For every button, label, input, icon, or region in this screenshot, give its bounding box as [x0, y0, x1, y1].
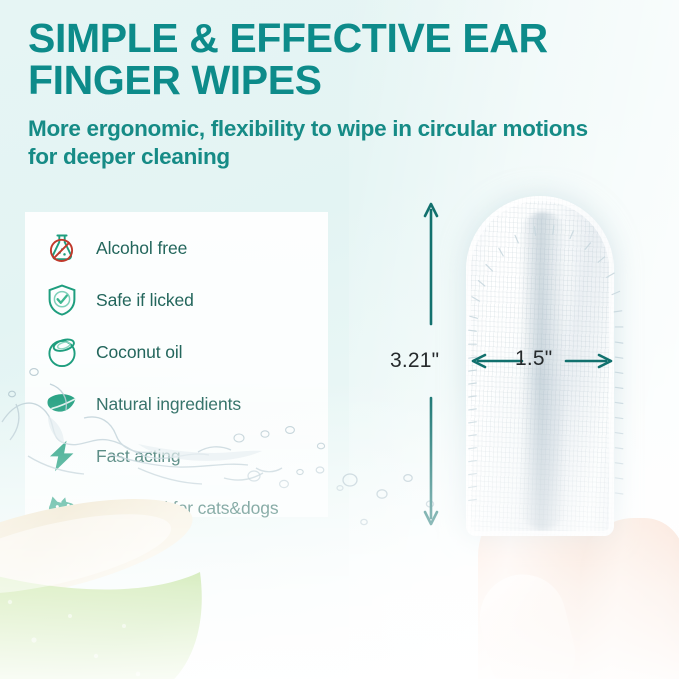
feature-item-alcohol-free: Alcohol free: [40, 222, 340, 274]
coconut-icon: [40, 332, 84, 372]
fingernail: [471, 565, 583, 679]
feature-label: Safe if licked: [96, 290, 194, 311]
feature-label: Natural ingredients: [96, 394, 241, 415]
lightning-bolt-icon: [40, 436, 84, 476]
feature-label: Universal for cats&dogs: [96, 498, 279, 519]
feature-item-universal-cats-dogs: Universal for cats&dogs: [40, 482, 340, 534]
product-infographic: SIMPLE & EFFECTIVE EAR FINGER WIPES More…: [0, 0, 679, 679]
water-droplets: [330, 460, 470, 550]
feature-item-safe-if-licked: Safe if licked: [40, 274, 340, 326]
shield-check-icon: [40, 280, 84, 320]
cat-dog-icon: [40, 488, 84, 528]
feature-item-natural-ingredients: Natural ingredients: [40, 378, 340, 430]
no-alcohol-flask-icon: [40, 228, 84, 268]
feature-label: Alcohol free: [96, 238, 187, 259]
height-dimension-label: 3.21": [390, 349, 439, 373]
width-dimension-label: 1.5": [515, 347, 552, 371]
page-title: SIMPLE & EFFECTIVE EAR FINGER WIPES: [28, 18, 628, 102]
leaf-icon: [40, 384, 84, 424]
feature-item-coconut-oil: Coconut oil: [40, 326, 340, 378]
product-photo: [452, 196, 632, 556]
feature-list: Alcohol free Safe if licked: [40, 222, 340, 534]
feature-item-fast-acting: Fast acting: [40, 430, 340, 482]
feature-label: Coconut oil: [96, 342, 182, 363]
adjacent-finger: [580, 518, 679, 679]
page-subtitle: More ergonomic, flexibility to wipe in c…: [28, 115, 608, 172]
feature-label: Fast acting: [96, 446, 181, 467]
